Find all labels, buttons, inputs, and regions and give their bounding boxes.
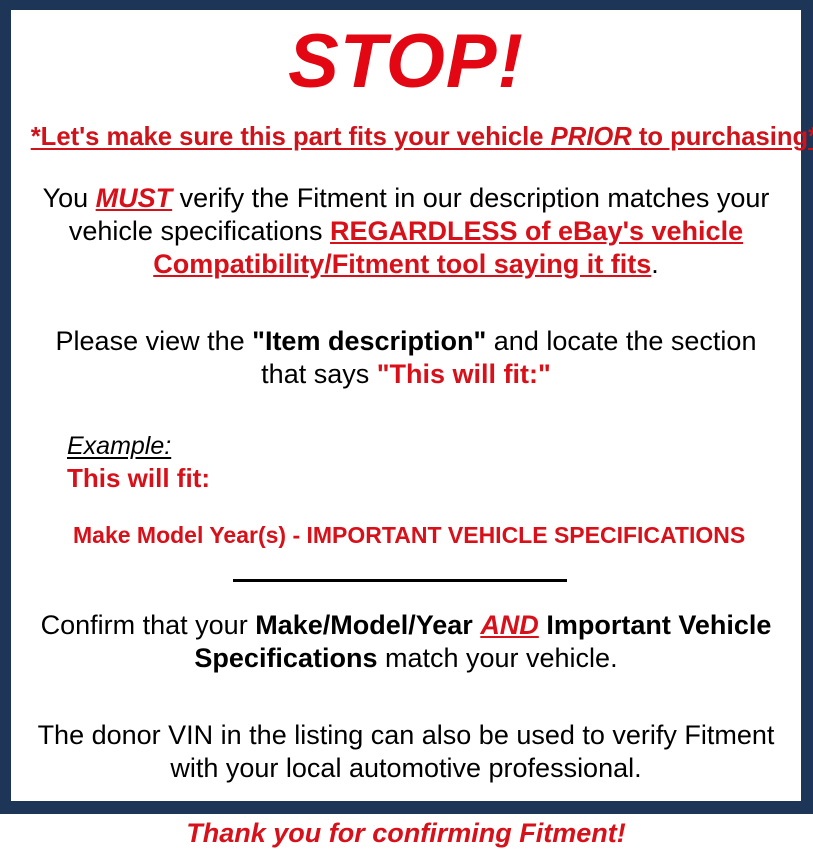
confirm-seg-2: match your vehicle. [377,643,617,673]
make-model-year-bold: Make/Model/Year [255,610,473,640]
confirm-seg-1: Confirm that your [41,610,256,640]
example-block: Example: This will fit: Make Model Year(… [25,433,787,548]
and-emphasis: AND [480,610,539,640]
item-description-paragraph: Please view the "Item description" and l… [25,325,787,391]
must-seg-1: You [43,183,96,213]
donor-vin-paragraph: The donor VIN in the listing can also be… [25,719,787,785]
please-seg-1: Please view the [56,326,253,356]
confirm-paragraph: Confirm that your Make/Model/Year AND Im… [25,609,787,675]
fitment-notice-frame: STOP! *Let's make sure this part fits yo… [0,0,813,814]
must-seg-3: . [651,249,659,279]
subtitle-text-before: *Let's make sure this part fits your veh… [31,121,551,151]
divider-container [25,573,787,587]
this-will-fit-quote: "This will fit:" [377,359,551,389]
subtitle-text-after: to purchasing* [632,121,813,151]
must-verify-paragraph: You MUST verify the Fitment in our descr… [25,182,787,281]
thank-you-line: Thank you for confirming Fitment! [25,817,787,849]
example-fit-heading: This will fit: [67,462,787,495]
example-label: Example: [67,433,787,461]
horizontal-divider [233,579,567,582]
example-spec-line: Make Model Year(s) - IMPORTANT VEHICLE S… [67,523,787,548]
notice-content: STOP! *Let's make sure this part fits yo… [11,24,801,815]
subtitle-line: *Let's make sure this part fits your veh… [31,122,782,152]
subtitle-prior-emphasis: PRIOR [551,121,632,151]
stop-headline: STOP! [25,24,787,100]
must-emphasis: MUST [96,183,173,213]
item-description-quote: "Item description" [252,326,486,356]
